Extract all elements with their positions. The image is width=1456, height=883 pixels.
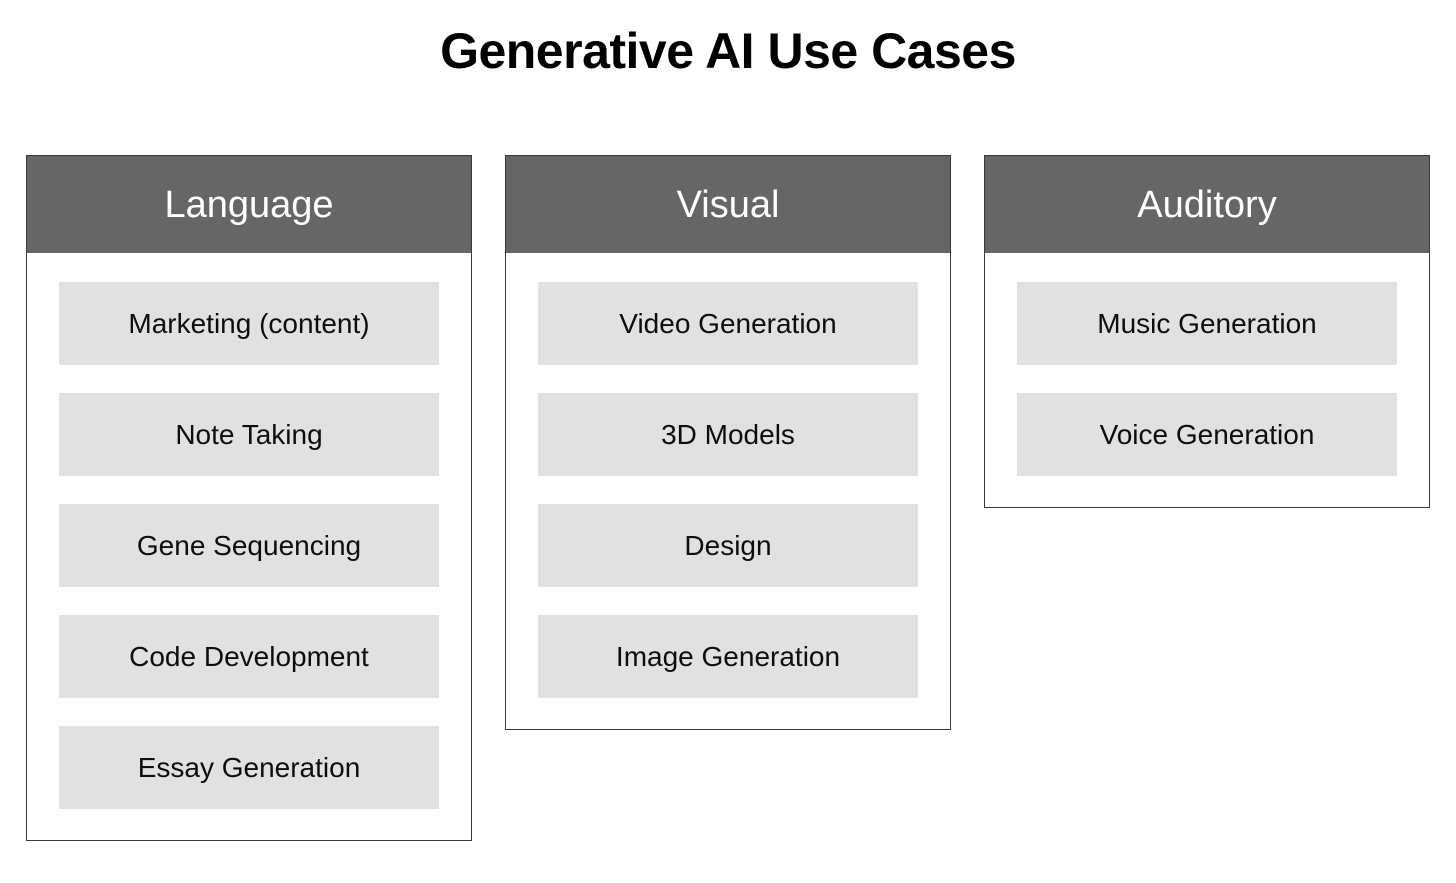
use-case-item[interactable]: Voice Generation xyxy=(1017,393,1397,476)
use-case-label: Video Generation xyxy=(619,310,836,338)
page-title: Generative AI Use Cases xyxy=(0,24,1456,79)
use-case-item[interactable]: Design xyxy=(538,504,918,587)
category-items-language: Marketing (content) Note Taking Gene Seq… xyxy=(27,253,471,840)
category-header-label: Visual xyxy=(677,186,780,224)
category-header-language: Language xyxy=(27,156,471,253)
use-case-label: Code Development xyxy=(129,643,369,671)
use-case-label: 3D Models xyxy=(661,421,795,449)
category-header-label: Language xyxy=(164,186,333,224)
use-case-item[interactable]: Image Generation xyxy=(538,615,918,698)
use-case-label: Music Generation xyxy=(1097,310,1316,338)
use-case-item[interactable]: Video Generation xyxy=(538,282,918,365)
category-header-label: Auditory xyxy=(1137,186,1276,224)
use-case-label: Essay Generation xyxy=(138,754,361,782)
use-case-item[interactable]: Marketing (content) xyxy=(59,282,439,365)
category-header-auditory: Auditory xyxy=(985,156,1429,253)
category-column-auditory: Auditory Music Generation Voice Generati… xyxy=(984,155,1430,508)
category-column-visual: Visual Video Generation 3D Models Design… xyxy=(505,155,951,730)
category-items-auditory: Music Generation Voice Generation xyxy=(985,253,1429,507)
use-case-label: Gene Sequencing xyxy=(137,532,361,560)
use-case-item[interactable]: Music Generation xyxy=(1017,282,1397,365)
category-header-visual: Visual xyxy=(506,156,950,253)
category-column-language: Language Marketing (content) Note Taking… xyxy=(26,155,472,841)
category-columns: Language Marketing (content) Note Taking… xyxy=(26,155,1430,841)
use-case-label: Marketing (content) xyxy=(128,310,369,338)
use-case-label: Image Generation xyxy=(616,643,840,671)
use-case-item[interactable]: Note Taking xyxy=(59,393,439,476)
use-case-item[interactable]: Essay Generation xyxy=(59,726,439,809)
use-case-label: Voice Generation xyxy=(1100,421,1315,449)
use-case-item[interactable]: 3D Models xyxy=(538,393,918,476)
use-case-label: Design xyxy=(684,532,771,560)
use-case-item[interactable]: Code Development xyxy=(59,615,439,698)
use-case-label: Note Taking xyxy=(175,421,322,449)
use-case-item[interactable]: Gene Sequencing xyxy=(59,504,439,587)
category-items-visual: Video Generation 3D Models Design Image … xyxy=(506,253,950,729)
